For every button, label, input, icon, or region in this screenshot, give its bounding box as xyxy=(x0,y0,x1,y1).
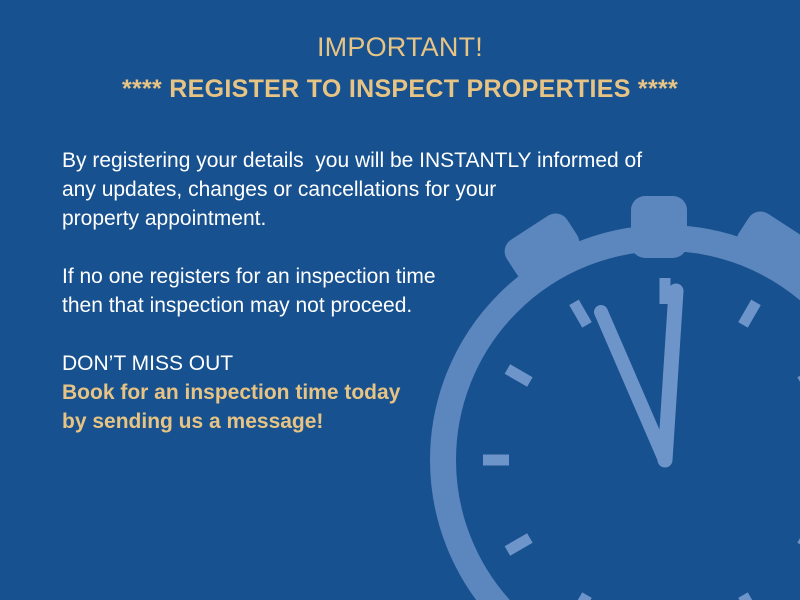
paragraph-spacer-2 xyxy=(62,320,722,349)
paragraph-no-registration-warning: If no one registers for an inspection ti… xyxy=(62,262,722,320)
slide-canvas: IMPORTANT! **** REGISTER TO INSPECT PROP… xyxy=(0,0,800,600)
heading-important: IMPORTANT! xyxy=(0,30,800,64)
cta-line-send-message: by sending us a message! xyxy=(62,407,722,436)
paragraph1-line1: By registering your details you will be … xyxy=(62,146,722,175)
content-layer: IMPORTANT! **** REGISTER TO INSPECT PROP… xyxy=(0,0,800,600)
paragraph1-line2: any updates, changes or cancellations fo… xyxy=(62,175,722,204)
paragraph-registering-details: By registering your details you will be … xyxy=(62,146,722,233)
paragraph-spacer-1 xyxy=(62,233,722,262)
call-to-action-block: DON’T MISS OUT Book for an inspection ti… xyxy=(62,349,722,436)
cta-line-book: Book for an inspection time today xyxy=(62,378,722,407)
cta-dont-miss-out: DON’T MISS OUT xyxy=(62,349,722,378)
body-block: By registering your details you will be … xyxy=(62,146,722,436)
heading-register-to-inspect: **** REGISTER TO INSPECT PROPERTIES **** xyxy=(0,72,800,106)
cta-book-message: Book for an inspection time today by sen… xyxy=(62,378,722,436)
paragraph1-line3: property appointment. xyxy=(62,204,722,233)
heading-block: IMPORTANT! **** REGISTER TO INSPECT PROP… xyxy=(0,30,800,106)
paragraph2-line2: then that inspection may not proceed. xyxy=(62,291,722,320)
paragraph2-line1: If no one registers for an inspection ti… xyxy=(62,262,722,291)
